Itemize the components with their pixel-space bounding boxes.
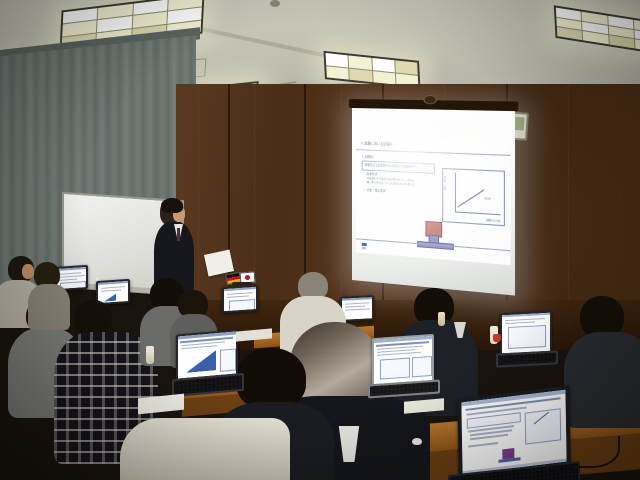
wood-grain <box>568 84 569 334</box>
slide-bullet-list: ・ 基本形状 中央部の平行部長さは比較的長くし、端部の 幅・厚さを大きくとった形… <box>363 173 436 197</box>
slide-title-bar <box>356 138 511 156</box>
flag-stand <box>232 282 252 287</box>
flag-japan-sun <box>245 275 250 280</box>
laptop-screen <box>98 281 128 303</box>
ceiling-light-5 <box>554 5 640 55</box>
slide-section-heading: 1. 試験片 <box>362 154 374 159</box>
projected-slide: 3. 試験に用いる試験片 1. 試験片 試験片は下記形状のものを用いて試験を行う… <box>356 138 511 265</box>
projection-screen-surface: 3. 試験に用いる試験片 1. 試験片 試験片は下記形状のものを用いて試験を行う… <box>352 108 515 296</box>
desk-flags <box>226 266 266 292</box>
seated-person-leg <box>120 418 290 480</box>
laptop-keyboard[interactable] <box>498 352 556 365</box>
person-head <box>74 300 112 336</box>
drink-bottle-2[interactable] <box>146 346 154 364</box>
slide-logo <box>362 243 367 246</box>
slide-footer-text: 資料 <box>362 248 366 251</box>
chart-x-axis-label: 試験片の寸法 <box>486 220 500 224</box>
computer-mouse[interactable] <box>412 438 422 445</box>
presenter-tie <box>177 228 180 241</box>
laptop-screen <box>342 297 372 320</box>
seminar-room-photo: 3. 試験に用いる試験片 1. 試験片 試験片は下記形状のものを用いて試験を行う… <box>0 0 640 480</box>
person-body <box>28 284 70 330</box>
laptop-screen <box>178 331 236 378</box>
chart-y-axis-label: 応力・ひずみ <box>444 175 447 190</box>
drink-bottle-3[interactable] <box>438 312 445 326</box>
ceiling-sensor <box>270 0 280 7</box>
papers-on-desk-1[interactable] <box>138 394 184 415</box>
slide-callout-text: 試験片は下記形状のものを用いて試験を行う <box>365 164 417 170</box>
person-face <box>22 264 34 279</box>
slide-bullet-2: ・ 寸法・加工形状 <box>363 189 436 197</box>
chart-annotation: 測定値 <box>484 199 491 202</box>
chart-plot-area: 測定値 <box>455 173 501 216</box>
laptop-screen <box>461 390 566 475</box>
laptop-keyboard[interactable] <box>370 382 438 397</box>
drink-bottle-label <box>493 334 501 342</box>
person-head <box>236 348 306 410</box>
presenter-hair <box>161 198 183 213</box>
slide-line-chart: 応力・ひずみ 測定値 試験片の寸法 <box>442 168 505 226</box>
laptop-screen <box>502 313 550 354</box>
person-body <box>564 332 640 428</box>
laptop-screen <box>374 336 432 384</box>
screen-pull-knob[interactable] <box>423 95 437 105</box>
projection-screen: 3. 試験に用いる試験片 1. 試験片 試験片は下記形状のものを用いて試験を行う… <box>352 108 515 296</box>
chart-line-series <box>458 190 485 208</box>
